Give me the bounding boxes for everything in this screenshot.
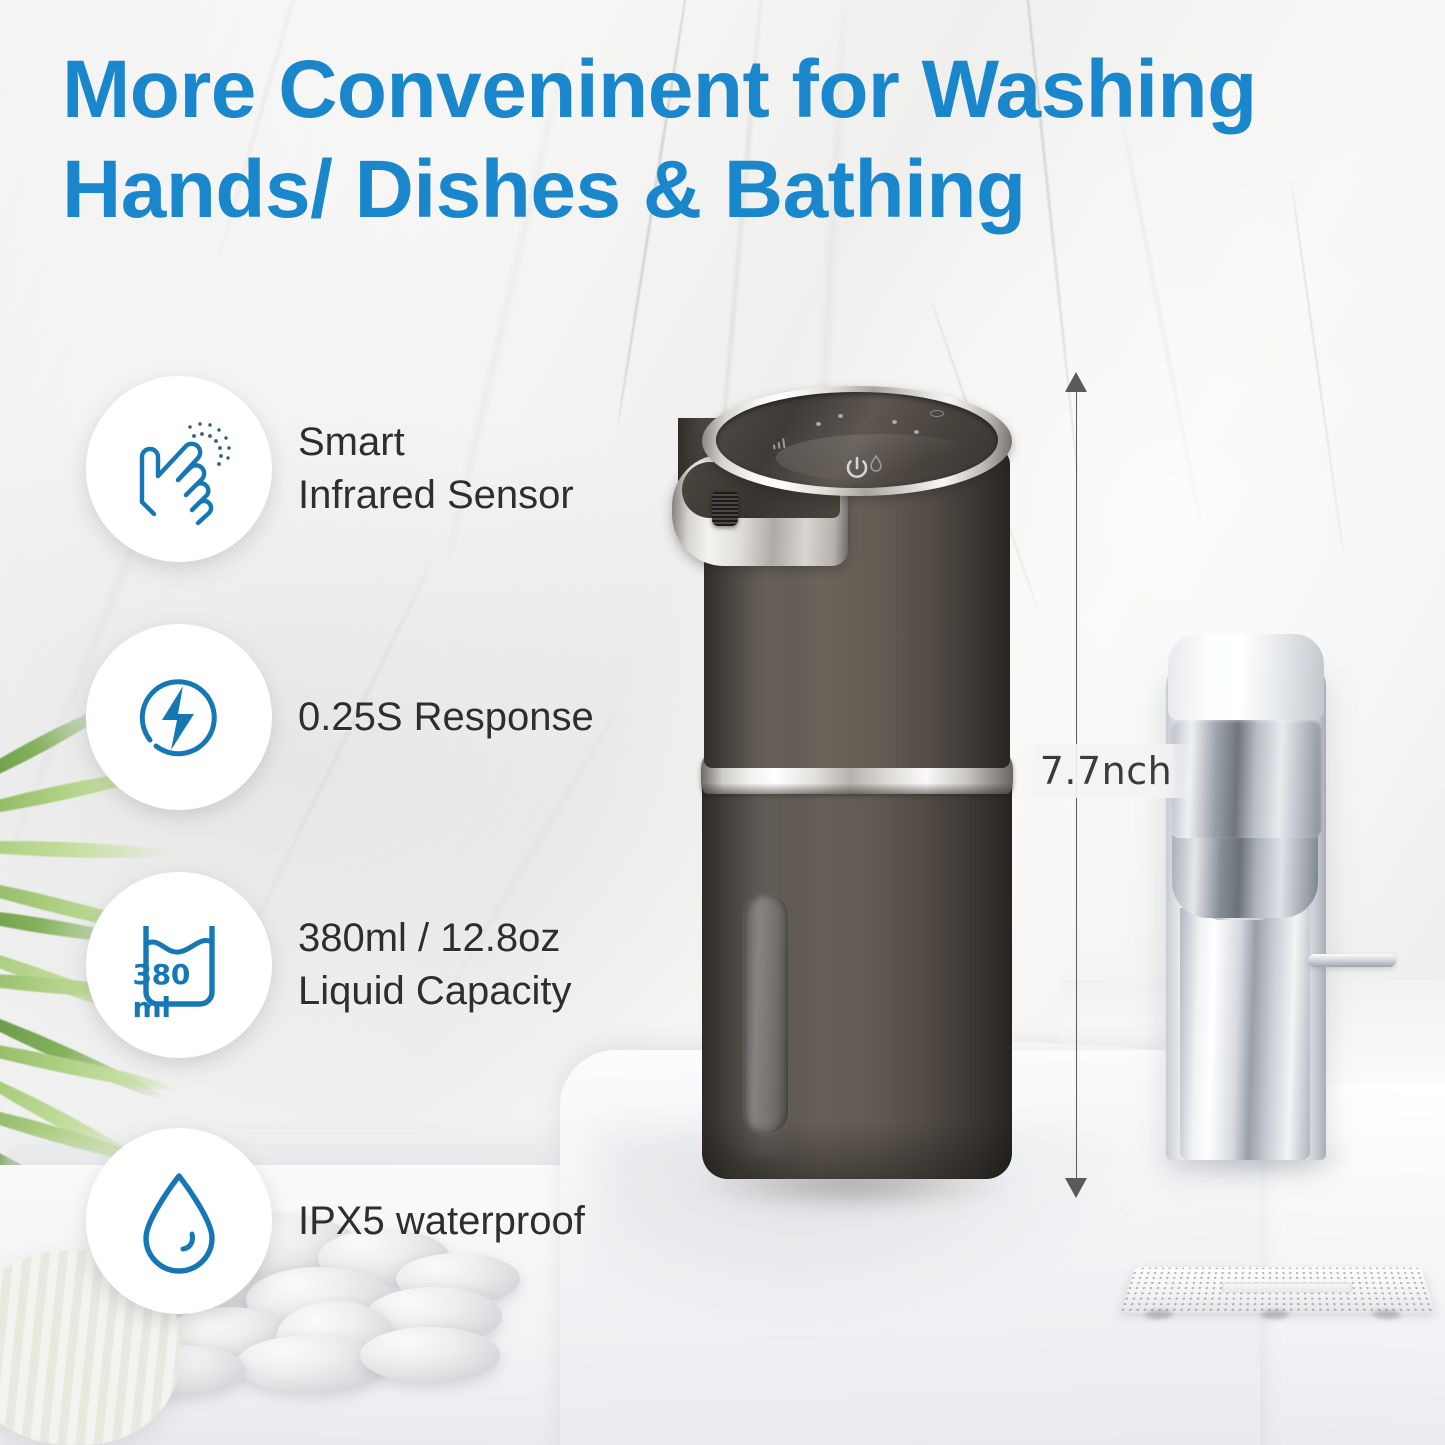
feature-item-response-time: 0.25S Response xyxy=(86,624,594,810)
feature-label: 0.25S Response xyxy=(298,691,594,744)
arrow-up-icon xyxy=(1065,372,1087,392)
headline-line-2: Hands/ Dishes & Bathing xyxy=(62,140,1362,240)
dispensing-nozzle-tip xyxy=(712,492,738,526)
water-drop-icon xyxy=(86,1128,272,1314)
height-dimension-annotation: 7.7nch xyxy=(1032,372,1232,1198)
feature-item-waterproof: IPX5 waterproof xyxy=(86,1128,585,1314)
control-panel[interactable] xyxy=(716,392,998,488)
automatic-soap-dispenser xyxy=(672,356,1022,1206)
faucet-lever-handle xyxy=(1308,954,1396,967)
wifi-signal-icon xyxy=(771,434,799,454)
perforated-soap-tray xyxy=(1120,1267,1436,1313)
feature-label: Smart Infrared Sensor xyxy=(298,416,574,522)
page-title: More Conveninent for Washing Hands/ Dish… xyxy=(62,40,1362,240)
liquid-capacity-beaker-icon: 380 ml xyxy=(86,872,272,1058)
feature-item-infrared-sensor: Smart Infrared Sensor xyxy=(86,376,574,562)
feature-label: IPX5 waterproof xyxy=(298,1195,585,1248)
power-icon[interactable] xyxy=(840,450,874,484)
feature-item-liquid-capacity: 380 ml 380ml / 12.8oz Liquid Capacity xyxy=(86,872,572,1058)
headline-line-1: More Conveninent for Washing xyxy=(62,40,1362,140)
lightning-bolt-circle-icon xyxy=(86,624,272,810)
capacity-icon-label: 380 ml xyxy=(133,958,226,1024)
feature-label: 380ml / 12.8oz Liquid Capacity xyxy=(298,912,572,1018)
dimension-label: 7.7nch xyxy=(1016,744,1196,798)
hand-infrared-sensor-icon xyxy=(86,376,272,562)
arrow-down-icon xyxy=(1065,1178,1087,1198)
